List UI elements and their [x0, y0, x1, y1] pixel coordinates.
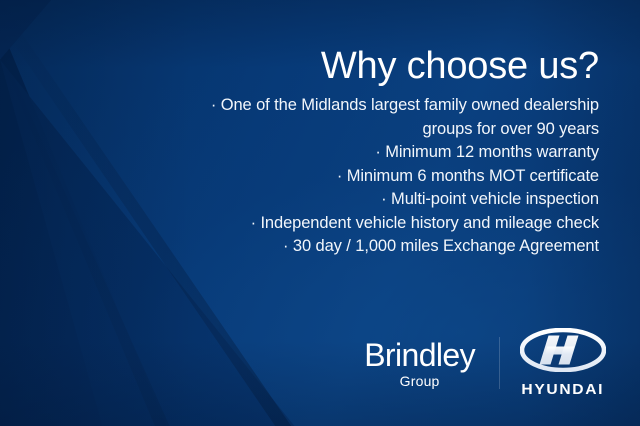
banner-content: Why choose us? · One of the Midlands lar… — [0, 0, 640, 426]
benefits-list: · One of the Midlands largest family own… — [199, 94, 599, 259]
page-title: Why choose us? — [321, 43, 599, 89]
why-choose-us-banner: Why choose us? · One of the Midlands lar… — [0, 0, 640, 426]
brindley-group-subtitle: Group — [400, 374, 440, 388]
list-item: · Minimum 6 months MOT certificate — [199, 165, 599, 189]
hyundai-h-ellipse-emblem — [520, 328, 606, 377]
logo-row: Brindley Group — [364, 328, 606, 398]
hyundai-wordmark: HYUNDAI — [522, 381, 605, 398]
list-item: · Independent vehicle history and mileag… — [199, 212, 599, 236]
list-item: · 30 day / 1,000 miles Exchange Agreemen… — [199, 235, 599, 259]
hyundai-logo: HYUNDAI — [520, 328, 606, 398]
brindley-group-logo: Brindley Group — [364, 339, 479, 388]
logo-divider — [499, 337, 500, 389]
list-item: · Minimum 12 months warranty — [199, 141, 599, 165]
list-item: · One of the Midlands largest family own… — [199, 94, 599, 141]
list-item: · Multi-point vehicle inspection — [199, 188, 599, 212]
brindley-wordmark: Brindley — [364, 339, 475, 371]
